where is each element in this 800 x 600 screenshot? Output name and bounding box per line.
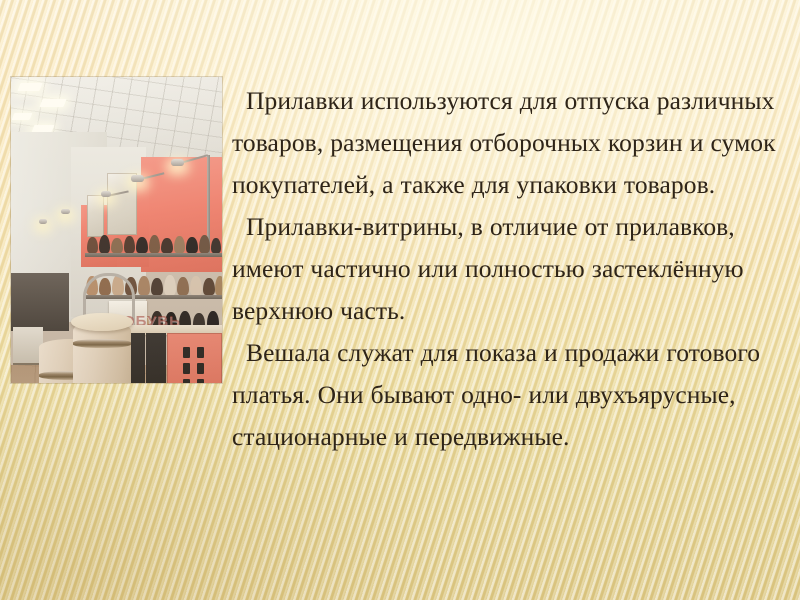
- slide-canvas: ОБУВЬ: [0, 0, 800, 600]
- store-interior-photo: ОБУВЬ: [11, 77, 222, 383]
- paragraph-2: Прилавки-витрины, в отличие от прилавков…: [232, 206, 788, 332]
- paragraph-1: Прилавки используются для отпуска различ…: [232, 80, 788, 206]
- slide-text-body: Прилавки используются для отпуска различ…: [232, 80, 788, 458]
- photo-light-haze: [11, 77, 222, 383]
- paragraph-3: Вешала служат для показа и продажи готов…: [232, 332, 788, 458]
